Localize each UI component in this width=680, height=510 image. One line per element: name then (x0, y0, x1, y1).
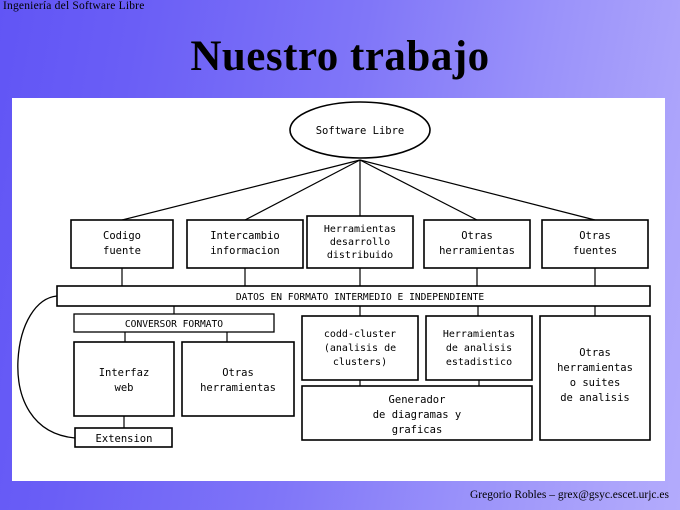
node-herramientas-desarrollo-line-2: desarrollo (330, 237, 390, 248)
node-otras-herramientas-conversor-line-2: herramientas (200, 382, 276, 394)
node-herramientas-desarrollo-distribuido[interactable]: Herramientas desarrollo distribuido (307, 216, 413, 286)
node-otras-suites-line-3: o suites (570, 377, 621, 389)
node-otras-suites-line-2: herramientas (557, 362, 633, 374)
node-conversor-formato-label: CONVERSOR FORMATO (125, 319, 223, 330)
root-connectors (122, 160, 595, 220)
node-codd-cluster-line-1: codd-cluster (324, 329, 396, 340)
extension-feedback-curve (18, 296, 75, 438)
node-herramientas-analisis-line-2: de analisis (446, 343, 512, 354)
slide: Ingeniería del Software Libre Nuestro tr… (0, 0, 680, 510)
node-generador-diagramas[interactable]: Generador de diagramas y graficas (302, 386, 532, 440)
node-codd-cluster[interactable]: codd-cluster (analisis de clusters) (302, 316, 418, 380)
diagram-panel: Software Libre Codigo fuente Intercambio… (12, 98, 665, 481)
node-codigo-fuente[interactable]: Codigo fuente (71, 220, 173, 286)
node-intercambio-informacion[interactable]: Intercambio informacion (187, 220, 303, 286)
node-herramientas-desarrollo-line-3: distribuido (327, 250, 393, 261)
node-otras-herramientas-top[interactable]: Otras herramientas (424, 220, 530, 286)
node-otras-herramientas-top-line-1: Otras (461, 230, 493, 242)
node-datos-bus[interactable]: DATOS EN FORMATO INTERMEDIO E INDEPENDIE… (57, 286, 650, 306)
generator-connectors (360, 380, 479, 386)
node-interfaz-web-line-2: web (115, 382, 134, 394)
slide-footer: Gregorio Robles – grex@gsyc.escet.urjc.e… (470, 489, 669, 501)
node-extension-label: Extension (96, 433, 153, 445)
node-extension[interactable]: Extension (75, 428, 172, 447)
node-herramientas-analisis-line-3: estadistico (446, 357, 512, 368)
node-interfaz-web[interactable]: Interfaz web (74, 342, 174, 428)
node-otras-herramientas-conversor-line-1: Otras (222, 367, 254, 379)
node-codd-cluster-line-3: clusters) (333, 357, 387, 368)
node-herramientas-desarrollo-line-1: Herramientas (324, 224, 396, 235)
node-intercambio-informacion-line-1: Intercambio (210, 230, 280, 242)
node-software-libre[interactable]: Software Libre (290, 102, 430, 158)
slide-title: Nuestro trabajo (0, 32, 680, 81)
node-intercambio-informacion-line-2: informacion (210, 245, 280, 257)
node-software-libre-label: Software Libre (316, 125, 405, 137)
node-codigo-fuente-line-1: Codigo (103, 230, 141, 242)
node-otras-suites-line-1: Otras (579, 347, 611, 359)
node-codigo-fuente-line-2: fuente (103, 245, 141, 257)
node-generador-line-2: de diagramas y (373, 409, 462, 421)
node-otras-herramientas-conversor[interactable]: Otras herramientas (182, 342, 294, 416)
node-otras-fuentes-line-2: fuentes (573, 245, 617, 257)
slide-header: Ingeniería del Software Libre (3, 0, 145, 12)
node-datos-bus-label: DATOS EN FORMATO INTERMEDIO E INDEPENDIE… (236, 292, 485, 303)
node-interfaz-web-line-1: Interfaz (99, 367, 150, 379)
node-otras-herramientas-top-line-2: herramientas (439, 245, 515, 257)
node-otras-fuentes-line-1: Otras (579, 230, 611, 242)
node-otras-suites-line-4: de analisis (560, 392, 630, 404)
node-generador-line-3: graficas (392, 424, 443, 436)
node-herramientas-analisis-estadistico[interactable]: Herramientas de analisis estadistico (426, 316, 532, 380)
architecture-diagram: Software Libre Codigo fuente Intercambio… (12, 98, 665, 481)
node-otras-fuentes[interactable]: Otras fuentes (542, 220, 648, 286)
node-generador-line-1: Generador (389, 394, 446, 406)
node-herramientas-analisis-line-1: Herramientas (443, 329, 515, 340)
node-codd-cluster-line-2: (analisis de (324, 343, 396, 354)
node-otras-herramientas-suites[interactable]: Otras herramientas o suites de analisis (540, 316, 650, 440)
node-conversor-formato[interactable]: CONVERSOR FORMATO (74, 314, 274, 342)
